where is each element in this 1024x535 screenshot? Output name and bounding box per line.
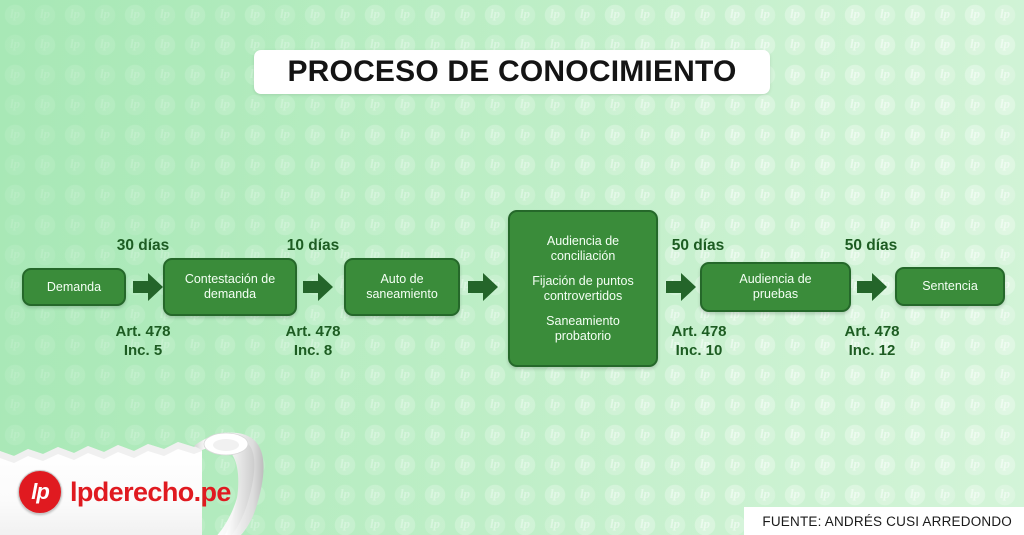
stage-label-line: controvertidos [532,289,633,304]
article-clause: Inc. 8 [274,341,352,360]
stage-label-line: Audiencia de [547,234,619,249]
article-label-t4: Art. 478 Inc. 10 [659,322,739,360]
lp-badge-icon: lp [18,470,62,514]
stage-label-line: Contestación de [185,272,275,287]
arrow-icon-t1 [131,270,165,304]
stage-label-line: probatorio [546,329,620,344]
stage-label-line: demanda [204,287,256,302]
infographic-canvas: lp PROCESO DE CONOCIMIENTO Demanda 30 dí… [0,0,1024,535]
days-label-t5: 50 días [832,237,910,255]
arrow-icon-t2 [301,270,335,304]
stage-label-line: Sentencia [922,279,978,294]
arrow-icon-t4 [664,270,698,304]
stage-box-demanda[interactable]: Demanda [22,268,126,306]
brand-name: lpderecho.pe [70,477,231,508]
page-title: PROCESO DE CONOCIMIENTO [287,55,736,89]
stage-box-audiencia-de-pruebas[interactable]: Audiencia de pruebas [700,262,851,312]
stage-box-sentencia[interactable]: Sentencia [895,267,1005,306]
stage-label-line: saneamiento [366,287,438,302]
source-text: FUENTE: ANDRÉS CUSI ARREDONDO [762,514,1012,529]
title-plate: PROCESO DE CONOCIMIENTO [254,50,770,94]
article-clause: Inc. 5 [104,341,182,360]
article-number: Art. 478 [832,322,912,341]
stage-label-line: conciliación [547,249,619,264]
article-number: Art. 478 [274,322,352,341]
stage-label-line: Demanda [47,280,101,295]
days-label-t2: 10 días [274,237,352,255]
stage-label-line: Audiencia de [739,272,811,287]
arrow-icon-t5 [855,270,889,304]
article-clause: Inc. 12 [832,341,912,360]
stage-label-line: Saneamiento [546,314,620,329]
stage-label-line: Auto de [380,272,423,287]
stage-box-auto-de-saneamiento[interactable]: Auto de saneamiento [344,258,460,316]
article-label-t2: Art. 478 Inc. 8 [274,322,352,360]
article-label-t5: Art. 478 Inc. 12 [832,322,912,360]
stage-label-line: Fijación de puntos [532,274,633,289]
arrow-icon-t3 [466,270,500,304]
stage-box-audiencia-de-conciliacion[interactable]: Audiencia de conciliación Fijación de pu… [508,210,658,367]
article-label-t1: Art. 478 Inc. 5 [104,322,182,360]
stage-group: Audiencia de conciliación [547,234,619,264]
article-clause: Inc. 10 [659,341,739,360]
days-label-t4: 50 días [659,237,737,255]
brand-logo[interactable]: lp lpderecho.pe [18,470,231,514]
stage-group: Fijación de puntos controvertidos [532,274,633,304]
stage-label-line: pruebas [753,287,798,302]
stage-group: Saneamiento probatorio [546,314,620,344]
days-label-t1: 30 días [104,237,182,255]
article-number: Art. 478 [104,322,182,341]
article-number: Art. 478 [659,322,739,341]
source-bar: FUENTE: ANDRÉS CUSI ARREDONDO [744,507,1024,535]
stage-box-contestacion-de-demanda[interactable]: Contestación de demanda [163,258,297,316]
